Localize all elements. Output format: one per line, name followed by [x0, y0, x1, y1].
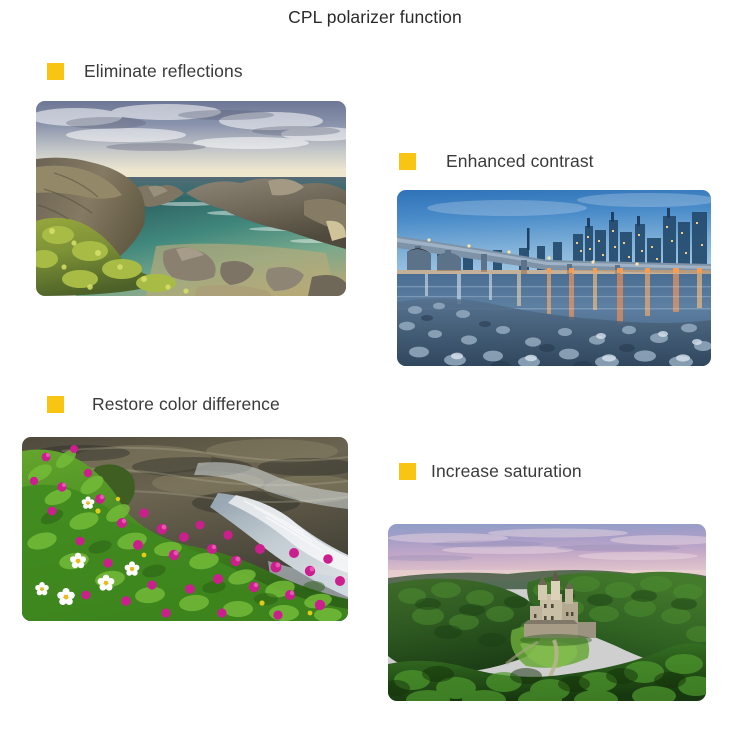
yellow-square-bullet-icon: [47, 396, 64, 413]
feature-label-text: Restore color difference: [92, 394, 280, 415]
feature-label-increase-saturation: Increase saturation: [399, 461, 582, 482]
feature-label-enhanced-contrast: Enhanced contrast: [399, 151, 594, 172]
magenta-flowers-stream-photo: [22, 437, 348, 621]
yellow-square-bullet-icon: [399, 153, 416, 170]
feature-label-restore-color-difference: Restore color difference: [47, 394, 280, 415]
feature-label-text: Eliminate reflections: [84, 61, 243, 82]
yellow-square-bullet-icon: [47, 63, 64, 80]
feature-label-text: Increase saturation: [431, 461, 582, 482]
page-title: CPL polarizer function: [0, 7, 750, 28]
blue-hour-city-bridge-photo: [397, 190, 711, 366]
rocky-coastal-cove-photo: [36, 101, 346, 296]
castle-green-valley-photo: [388, 524, 706, 701]
cpl-polarizer-infographic: CPL polarizer function Eliminate reflect…: [0, 0, 750, 750]
yellow-square-bullet-icon: [399, 463, 416, 480]
feature-label-text: Enhanced contrast: [446, 151, 594, 172]
feature-label-eliminate-reflections: Eliminate reflections: [47, 61, 243, 82]
